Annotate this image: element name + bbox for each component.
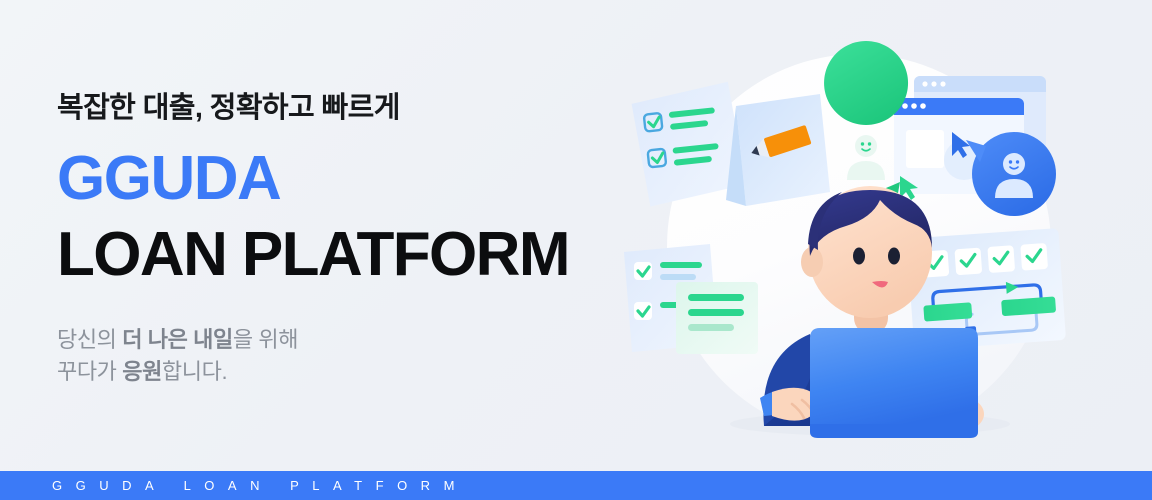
hero-tagline: 당신의 더 나은 내일을 위해 꾸다가 응원합니다. [57, 324, 617, 389]
tagline-2-emphasis: 응원 [122, 359, 162, 384]
tagline-1-emphasis: 더 나은 내일 [122, 327, 233, 352]
tagline-2-prefix: 꾸다가 [57, 359, 122, 384]
bottom-brand-bar: GGUDA LOAN PLATFORM [0, 471, 1152, 500]
hero-copy-block: 복잡한 대출, 정확하고 빠르게 GGUDA LOAN PLATFORM 당신의… [57, 92, 617, 389]
bottom-bar-label: GGUDA LOAN PLATFORM [0, 478, 468, 493]
brand-name: GGUDA [57, 147, 617, 210]
document-with-pencil [726, 94, 830, 206]
tagline-line-1: 당신의 더 나은 내일을 위해 [57, 324, 617, 357]
hero-eyebrow: 복잡한 대출, 정확하고 빠르게 [57, 92, 617, 125]
tagline-1-suffix: 을 위해 [233, 327, 298, 352]
tagline-2-suffix: 합니다. [162, 359, 227, 384]
hero-illustration [614, 0, 1152, 474]
brand-subtitle: LOAN PLATFORM [57, 223, 617, 286]
hero-banner: 복잡한 대출, 정확하고 빠르게 GGUDA LOAN PLATFORM 당신의… [0, 0, 1152, 500]
tagline-1-prefix: 당신의 [57, 327, 122, 352]
tagline-line-2: 꾸다가 응원합니다. [57, 356, 617, 389]
